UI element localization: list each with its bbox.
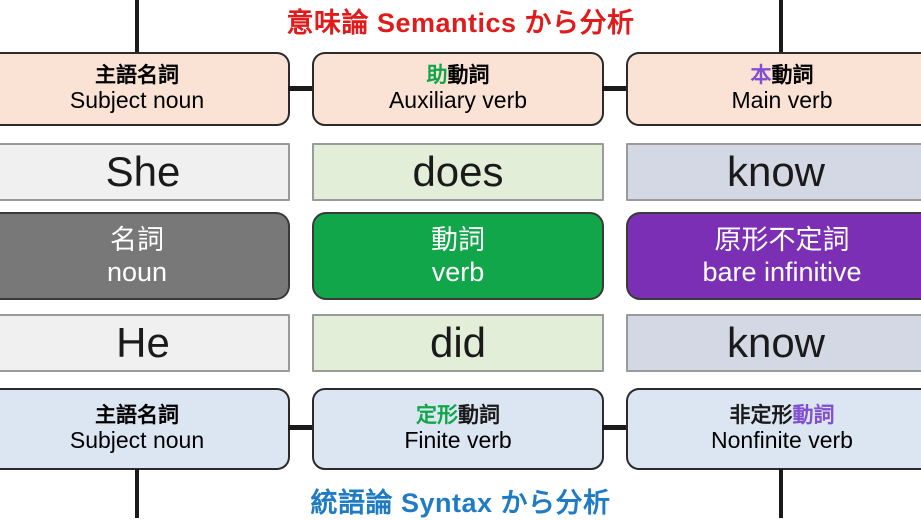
syntax-label-nonfinite-en: Nonfinite verb xyxy=(711,428,853,454)
pos-cell-verb-jp: 動詞 xyxy=(431,225,485,255)
word-cell-know-2[interactable]: know xyxy=(626,314,921,372)
word-text: She xyxy=(106,148,181,195)
semantic-label-subject-jp: 主語名詞 xyxy=(95,64,179,88)
plain-chars: 動詞 xyxy=(448,64,490,87)
word-cell-did[interactable]: did xyxy=(312,314,604,372)
second-chars: 動詞 xyxy=(458,404,500,427)
word-text: know xyxy=(727,319,825,366)
semantic-label-auxiliary-en: Auxiliary verb xyxy=(389,88,527,114)
pos-cell-noun-en: noun xyxy=(107,257,167,287)
first-chars: 主語名詞 xyxy=(95,404,179,427)
syntax-connector-2 xyxy=(602,425,628,430)
top-left-connector-line xyxy=(135,0,139,52)
word-text: did xyxy=(430,319,486,366)
syntax-label-subject[interactable]: 主語名詞 Subject noun xyxy=(0,388,290,470)
accent-char: 助 xyxy=(427,64,448,87)
syntax-label-finite-jp: 定形動詞 xyxy=(416,404,500,428)
word-cell-he[interactable]: He xyxy=(0,314,290,372)
semantic-label-subject-en: Subject noun xyxy=(70,88,204,114)
word-text: know xyxy=(727,148,825,195)
semantic-label-main-en: Main verb xyxy=(732,88,833,114)
word-text: does xyxy=(412,148,503,195)
plain-chars: 主語名詞 xyxy=(95,64,179,87)
diagram-canvas: 意味論 Semantics から分析 主語名詞 Subject noun 助動詞… xyxy=(0,0,921,518)
semantic-label-auxiliary-jp: 助動詞 xyxy=(427,64,490,88)
syntax-label-subject-jp: 主語名詞 xyxy=(95,404,179,428)
word-cell-know-1[interactable]: know xyxy=(626,143,921,201)
semantic-label-subject[interactable]: 主語名詞 Subject noun xyxy=(0,52,290,126)
plain-chars: 動詞 xyxy=(772,64,814,87)
first-chars: 定形 xyxy=(416,404,458,427)
word-text: He xyxy=(116,319,170,366)
syntax-connector-1 xyxy=(288,425,314,430)
syntax-label-finite[interactable]: 定形動詞 Finite verb xyxy=(312,388,604,470)
syntax-label-nonfinite[interactable]: 非定形動詞 Nonfinite verb xyxy=(626,388,921,470)
semantic-connector-2 xyxy=(602,86,628,91)
top-right-connector-line xyxy=(779,0,783,52)
pos-cell-noun[interactable]: 名詞 noun xyxy=(0,212,290,300)
pos-cell-bare-infinitive-jp: 原形不定詞 xyxy=(715,225,850,255)
syntax-banner-text: 統語論 Syntax から分析 xyxy=(310,488,610,518)
semantic-label-auxiliary[interactable]: 助動詞 Auxiliary verb xyxy=(312,52,604,126)
syntax-label-nonfinite-jp: 非定形動詞 xyxy=(730,404,835,428)
pos-cell-noun-jp: 名詞 xyxy=(110,225,164,255)
first-chars: 非定形 xyxy=(730,404,793,427)
syntax-label-finite-en: Finite verb xyxy=(404,428,511,454)
word-cell-does[interactable]: does xyxy=(312,143,604,201)
word-cell-she[interactable]: She xyxy=(0,143,290,201)
pos-cell-verb[interactable]: 動詞 verb xyxy=(312,212,604,300)
accent-char: 本 xyxy=(751,64,772,87)
semantic-label-main[interactable]: 本動詞 Main verb xyxy=(626,52,921,126)
syntax-banner: 統語論 Syntax から分析 xyxy=(0,481,921,520)
pos-cell-bare-infinitive[interactable]: 原形不定詞 bare infinitive xyxy=(626,212,921,300)
pos-cell-verb-en: verb xyxy=(432,257,485,287)
semantic-connector-1 xyxy=(288,86,314,91)
semantics-banner-text: 意味論 Semantics から分析 xyxy=(286,8,634,38)
semantic-label-main-jp: 本動詞 xyxy=(751,64,814,88)
pos-cell-bare-infinitive-en: bare infinitive xyxy=(702,257,861,287)
syntax-label-subject-en: Subject noun xyxy=(70,428,204,454)
second-chars: 動詞 xyxy=(793,404,835,427)
